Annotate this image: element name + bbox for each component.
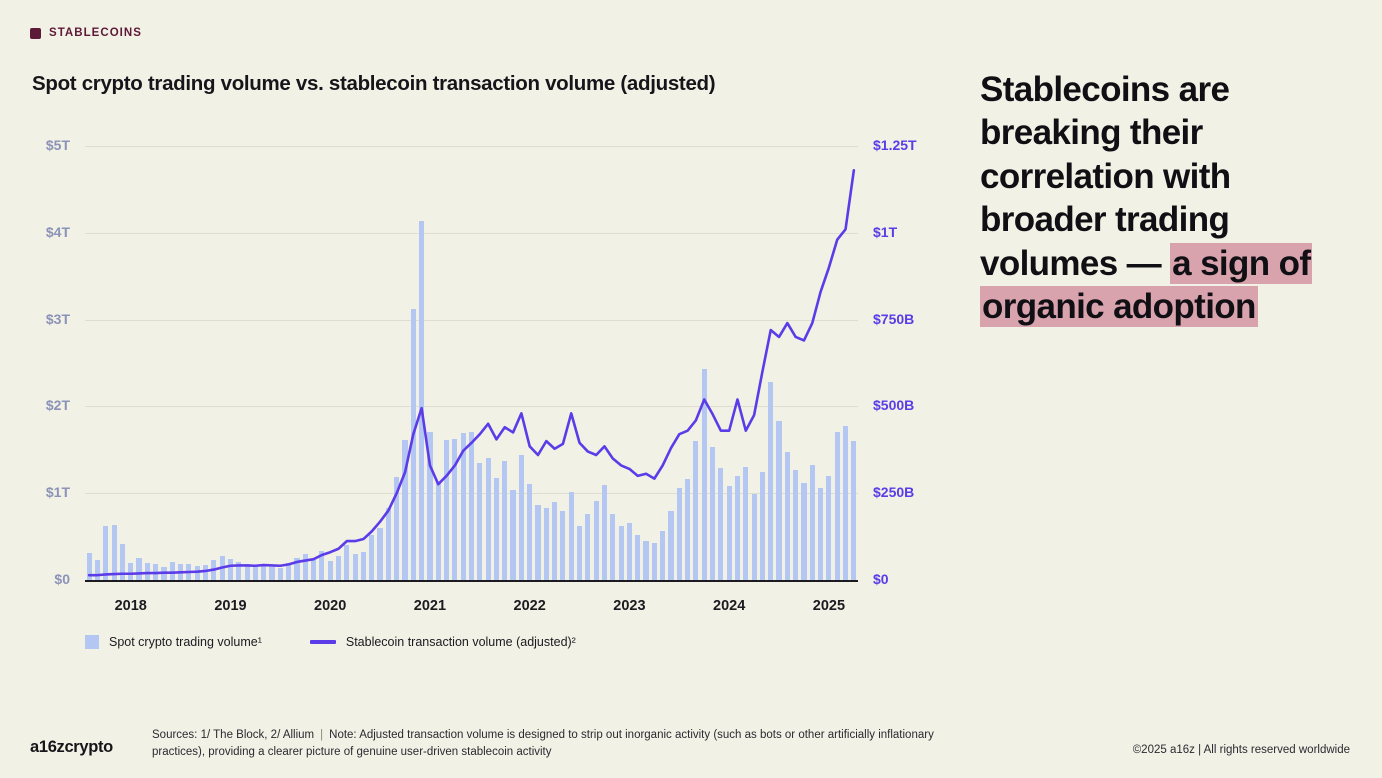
footer-separator: | <box>314 729 329 741</box>
line-series <box>85 146 858 580</box>
x-axis-tick-label: 2018 <box>115 598 147 614</box>
x-axis-tick-label: 2025 <box>813 598 845 614</box>
category-label: STABLECOINS <box>49 27 142 39</box>
footer-copyright: ©2025 a16z | All rights reserved worldwi… <box>1133 744 1350 756</box>
right-axis-tick-label: $500B <box>873 397 914 413</box>
chart-panel: Spot crypto trading volume vs. stablecoi… <box>0 60 960 680</box>
left-axis-tick-label: $1T <box>46 484 70 500</box>
right-axis-tick-label: $1.25T <box>873 137 917 153</box>
footer-note: Sources: 1/ The Block, 2/ Allium|Note: A… <box>152 727 942 762</box>
chart-title: Spot crypto trading volume vs. stablecoi… <box>32 72 715 96</box>
left-axis-tick-label: $4T <box>46 224 70 240</box>
legend-line-swatch-icon <box>310 640 336 644</box>
category-tag: STABLECOINS <box>30 27 142 39</box>
x-axis-tick-label: 2021 <box>414 598 446 614</box>
left-axis-tick-label: $3T <box>46 311 70 327</box>
x-axis-tick-label: 2022 <box>514 598 546 614</box>
right-axis-tick-label: $250B <box>873 484 914 500</box>
right-axis-tick-label: $750B <box>873 311 914 327</box>
x-axis-tick-label: 2024 <box>713 598 745 614</box>
category-square-icon <box>30 28 41 39</box>
left-axis-tick-label: $0 <box>54 571 70 587</box>
legend-item-line[interactable]: Stablecoin transaction volume (adjusted)… <box>310 635 576 649</box>
left-axis-tick-label: $5T <box>46 137 70 153</box>
legend-bar-label: Spot crypto trading volume¹ <box>109 635 262 649</box>
headline: Stablecoins are breaking their correlati… <box>980 68 1340 328</box>
x-axis-tick-label: 2020 <box>314 598 346 614</box>
chart-legend: Spot crypto trading volume¹ Stablecoin t… <box>85 635 576 649</box>
legend-line-label: Stablecoin transaction volume (adjusted)… <box>346 635 576 649</box>
x-axis-tick-label: 2019 <box>214 598 246 614</box>
x-axis-tick-label: 2023 <box>613 598 645 614</box>
axis-baseline <box>85 580 858 582</box>
footer-sources: Sources: 1/ The Block, 2/ Allium <box>152 729 314 741</box>
plot-area: $0$1T$2T$3T$4T$5T $0$250B$500B$750B$1T$1… <box>85 146 858 580</box>
right-axis-tick-label: $0 <box>873 571 889 587</box>
legend-bar-swatch-icon <box>85 635 99 649</box>
legend-item-bars[interactable]: Spot crypto trading volume¹ <box>85 635 262 649</box>
a16zcrypto-logo: a16zcrypto <box>30 738 113 757</box>
stablecoin-line-path <box>89 170 854 575</box>
right-axis-tick-label: $1T <box>873 224 897 240</box>
left-axis-tick-label: $2T <box>46 397 70 413</box>
